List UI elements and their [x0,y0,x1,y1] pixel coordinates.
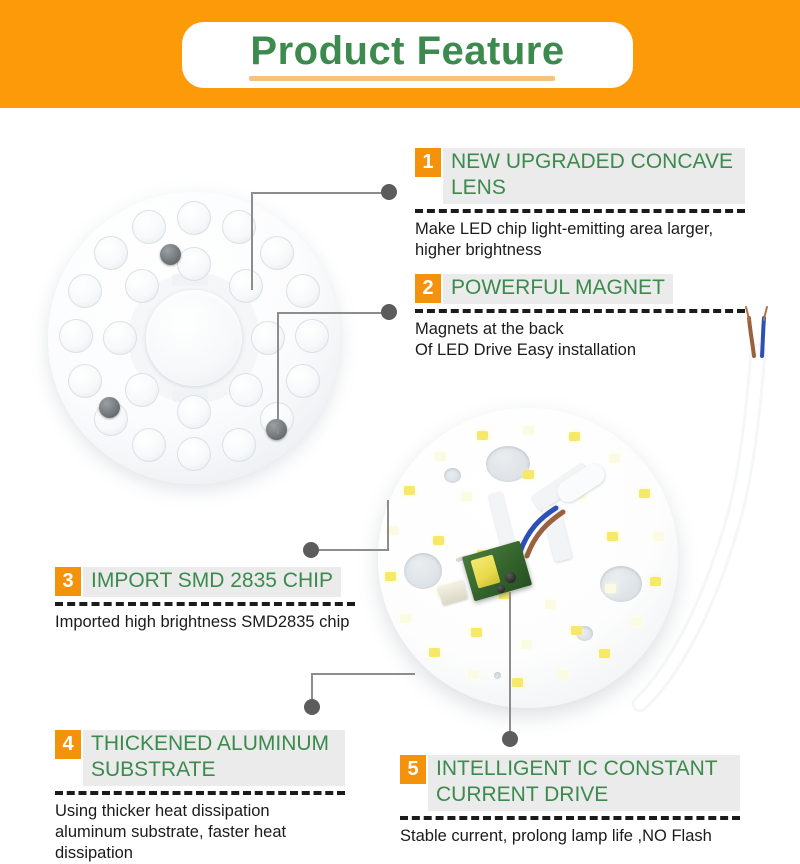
feature-block-2: 2 POWERFUL MAGNET Magnets at the back Of… [415,274,745,361]
leader-dot-5 [502,731,518,747]
feature-4-badge: 4 [55,730,81,759]
feature-4-divider [55,791,345,795]
feature-1-badge: 1 [415,148,441,177]
leader-dot-4 [304,699,320,715]
feature-2-heading: 2 POWERFUL MAGNET [415,274,745,304]
feature-2-body: Magnets at the back Of LED Drive Easy in… [415,319,745,361]
feature-4-heading: 4 THICKENED ALUMINUM SUBSTRATE [55,730,345,786]
feature-block-1: 1 NEW UPGRADED CONCAVE LENS Make LED chi… [415,148,745,261]
feature-block-4: 4 THICKENED ALUMINUM SUBSTRATE Using thi… [55,730,345,864]
feature-3-divider [55,602,355,606]
feature-1-body: Make LED chip light-emitting area larger… [415,219,745,261]
feature-block-3: 3 IMPORT SMD 2835 CHIP Imported high bri… [55,567,355,633]
feature-2-divider [415,309,745,313]
feature-5-divider [400,816,740,820]
feature-2-badge: 2 [415,274,441,303]
feature-2-title: POWERFUL MAGNET [451,275,665,301]
feature-1-title-wrap: NEW UPGRADED CONCAVE LENS [443,148,745,204]
feature-4-title-wrap: THICKENED ALUMINUM SUBSTRATE [83,730,345,786]
feature-1-divider [415,209,745,213]
feature-3-title: IMPORT SMD 2835 CHIP [91,568,333,594]
product-feature-infographic: Product Feature [0,0,800,864]
feature-5-title-wrap: INTELLIGENT IC CONSTANT CURRENT DRIVE [428,755,740,811]
feature-3-heading: 3 IMPORT SMD 2835 CHIP [55,567,355,597]
feature-5-body: Stable current, prolong lamp life ,NO Fl… [400,826,740,847]
feature-1-heading: 1 NEW UPGRADED CONCAVE LENS [415,148,745,204]
feature-3-title-wrap: IMPORT SMD 2835 CHIP [83,567,341,597]
feature-5-heading: 5 INTELLIGENT IC CONSTANT CURRENT DRIVE [400,755,740,811]
leader-dot-3 [303,542,319,558]
feature-3-badge: 3 [55,567,81,596]
feature-4-title: THICKENED ALUMINUM SUBSTRATE [91,731,337,783]
feature-5-title: INTELLIGENT IC CONSTANT CURRENT DRIVE [436,756,732,808]
feature-2-title-wrap: POWERFUL MAGNET [443,274,673,304]
leader-dot-2 [381,304,397,320]
leader-dot-1 [381,184,397,200]
feature-5-badge: 5 [400,755,426,784]
feature-4-body: Using thicker heat dissipation aluminum … [55,801,345,864]
feature-block-5: 5 INTELLIGENT IC CONSTANT CURRENT DRIVE … [400,755,740,847]
feature-1-title: NEW UPGRADED CONCAVE LENS [451,149,737,201]
feature-3-body: Imported high brightness SMD2835 chip [55,612,355,633]
